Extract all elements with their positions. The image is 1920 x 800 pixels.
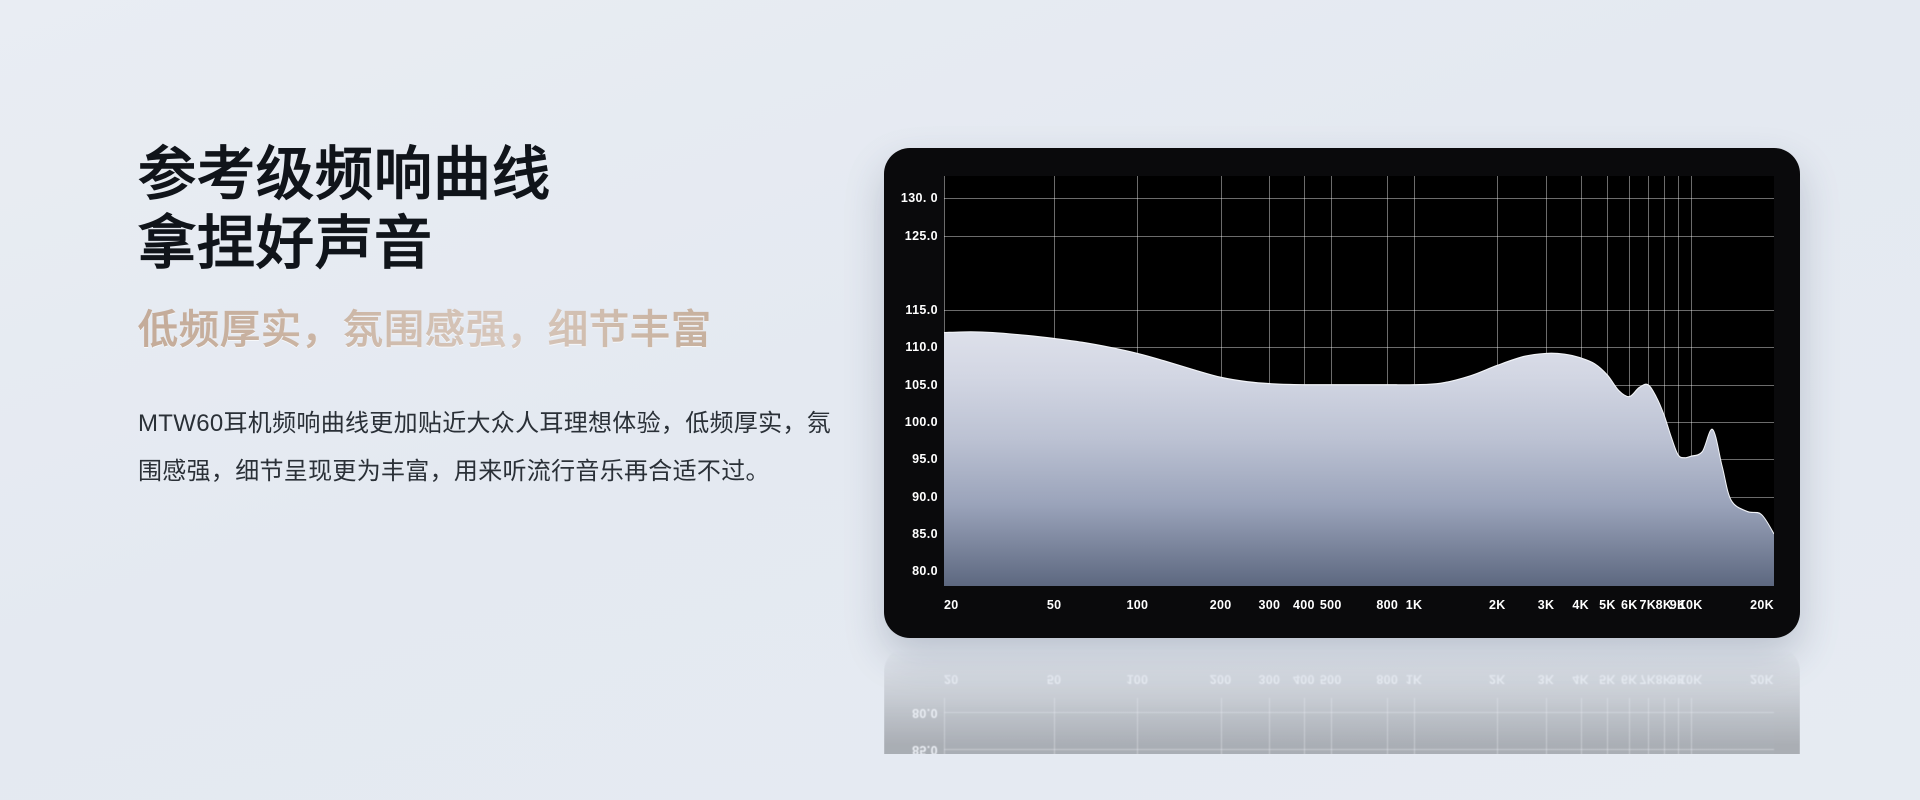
grid-line-vertical — [1497, 698, 1498, 754]
grid-line-vertical — [1304, 698, 1305, 754]
reflection-panel: 20501002003004005008001K2K3K4K5K6K7K8K9K… — [884, 646, 1800, 754]
x-tick-label: 300 — [1258, 598, 1280, 612]
x-tick-label: 10K — [1679, 598, 1703, 612]
y-tick-label: 85.0 — [912, 527, 938, 541]
grid-line-vertical — [1387, 698, 1388, 754]
y-tick-label: 80.0 — [912, 706, 938, 720]
x-tick-label: 500 — [1320, 672, 1342, 686]
x-tick-label: 3K — [1538, 598, 1555, 612]
copy-block: 参考级频响曲线 拿捏好声音 低频厚实，氛围感强，细节丰富 MTW60耳机频响曲线… — [138, 140, 858, 496]
grid-line-vertical — [1607, 698, 1608, 754]
grid-line-vertical — [944, 698, 945, 754]
promo-page: 参考级频响曲线 拿捏好声音 低频厚实，氛围感强，细节丰富 MTW60耳机频响曲线… — [0, 0, 1920, 800]
x-tick-label: 400 — [1293, 672, 1315, 686]
grid-line-vertical — [1054, 698, 1055, 754]
x-tick-label: 6K — [1621, 672, 1638, 686]
y-tick-label: 115.0 — [905, 303, 938, 317]
grid-line-vertical — [1691, 698, 1692, 754]
x-tick-label: 5K — [1599, 598, 1616, 612]
x-tick-label: 50 — [1047, 598, 1062, 612]
x-tick-label: 100 — [1126, 598, 1148, 612]
x-tick-label: 1K — [1406, 598, 1423, 612]
y-tick-label: 130. 0 — [901, 191, 938, 205]
grid-line-vertical — [1678, 698, 1679, 754]
x-tick-label: 2K — [1489, 672, 1506, 686]
y-tick-label: 85.0 — [912, 743, 938, 754]
x-tick-label: 20K — [1750, 672, 1774, 686]
x-tick-label: 20K — [1750, 598, 1774, 612]
grid-line-vertical — [1648, 698, 1649, 754]
panel-reflection: 20501002003004005008001K2K3K4K5K6K7K8K9K… — [884, 646, 1800, 754]
subheadline: 低频厚实，氛围感强，细节丰富 — [138, 306, 858, 354]
y-tick-label: 105.0 — [905, 378, 938, 392]
reflection-x-axis-labels: 20501002003004005008001K2K3K4K5K6K7K8K9K… — [944, 666, 1774, 686]
y-tick-label: 125.0 — [905, 229, 938, 243]
grid-line-horizontal — [944, 749, 1774, 750]
grid-line-vertical — [1221, 698, 1222, 754]
headline-line-2: 拿捏好声音 — [138, 209, 858, 278]
x-tick-label: 200 — [1210, 672, 1232, 686]
x-tick-label: 7K — [1640, 672, 1657, 686]
x-tick-label: 2K — [1489, 598, 1506, 612]
page-title: 参考级频响曲线 拿捏好声音 — [138, 140, 858, 278]
grid-line-vertical — [1664, 698, 1665, 754]
x-axis-labels: 20501002003004005008001K2K3K4K5K6K7K8K9K… — [944, 598, 1774, 618]
headline-line-1: 参考级频响曲线 — [138, 142, 551, 207]
x-tick-label: 50 — [1047, 672, 1062, 686]
x-tick-label: 3K — [1538, 672, 1555, 686]
x-tick-label: 4K — [1572, 598, 1589, 612]
frequency-response-chart: 130. 0125.0115.0110.0105.0100.095.090.08… — [884, 148, 1800, 638]
y-axis-labels: 130. 0125.0115.0110.0105.0100.095.090.08… — [884, 176, 938, 586]
grid-line-vertical — [1546, 698, 1547, 754]
x-tick-label: 1K — [1406, 672, 1423, 686]
y-tick-label: 90.0 — [912, 490, 938, 504]
grid-line-vertical — [1581, 698, 1582, 754]
x-tick-label: 400 — [1293, 598, 1315, 612]
x-tick-label: 6K — [1621, 598, 1638, 612]
grid-line-horizontal — [944, 712, 1774, 713]
x-tick-label: 20 — [944, 598, 959, 612]
chart-panel: 130. 0125.0115.0110.0105.0100.095.090.08… — [884, 148, 1800, 638]
x-tick-label: 4K — [1572, 672, 1589, 686]
x-tick-label: 7K — [1640, 598, 1657, 612]
x-tick-label: 20 — [944, 672, 959, 686]
x-tick-label: 10K — [1679, 672, 1703, 686]
grid-line-vertical — [1269, 698, 1270, 754]
x-tick-label: 5K — [1599, 672, 1616, 686]
grid-line-vertical — [1414, 698, 1415, 754]
y-tick-label: 80.0 — [912, 564, 938, 578]
x-tick-label: 100 — [1126, 672, 1148, 686]
x-tick-label: 8K — [1656, 672, 1673, 686]
plot-area — [944, 176, 1774, 586]
x-tick-label: 800 — [1376, 672, 1398, 686]
x-tick-label: 800 — [1376, 598, 1398, 612]
y-tick-label: 100.0 — [905, 415, 938, 429]
y-tick-label: 110.0 — [905, 340, 938, 354]
x-tick-label: 200 — [1210, 598, 1232, 612]
reflection-plot — [944, 698, 1774, 754]
y-tick-label: 95.0 — [912, 452, 938, 466]
grid-line-vertical — [1331, 698, 1332, 754]
reflection-y-axis-labels: 130. 0125.0115.0110.0105.0100.095.090.08… — [884, 698, 938, 754]
grid-line-vertical — [1137, 698, 1138, 754]
x-tick-label: 9K — [1670, 672, 1687, 686]
x-tick-label: 300 — [1258, 672, 1280, 686]
body-paragraph: MTW60耳机频响曲线更加贴近大众人耳理想体验，低频厚实，氛围感强，细节呈现更为… — [138, 400, 838, 496]
grid-line-vertical — [1629, 698, 1630, 754]
response-curve-area — [944, 176, 1774, 586]
x-tick-label: 500 — [1320, 598, 1342, 612]
